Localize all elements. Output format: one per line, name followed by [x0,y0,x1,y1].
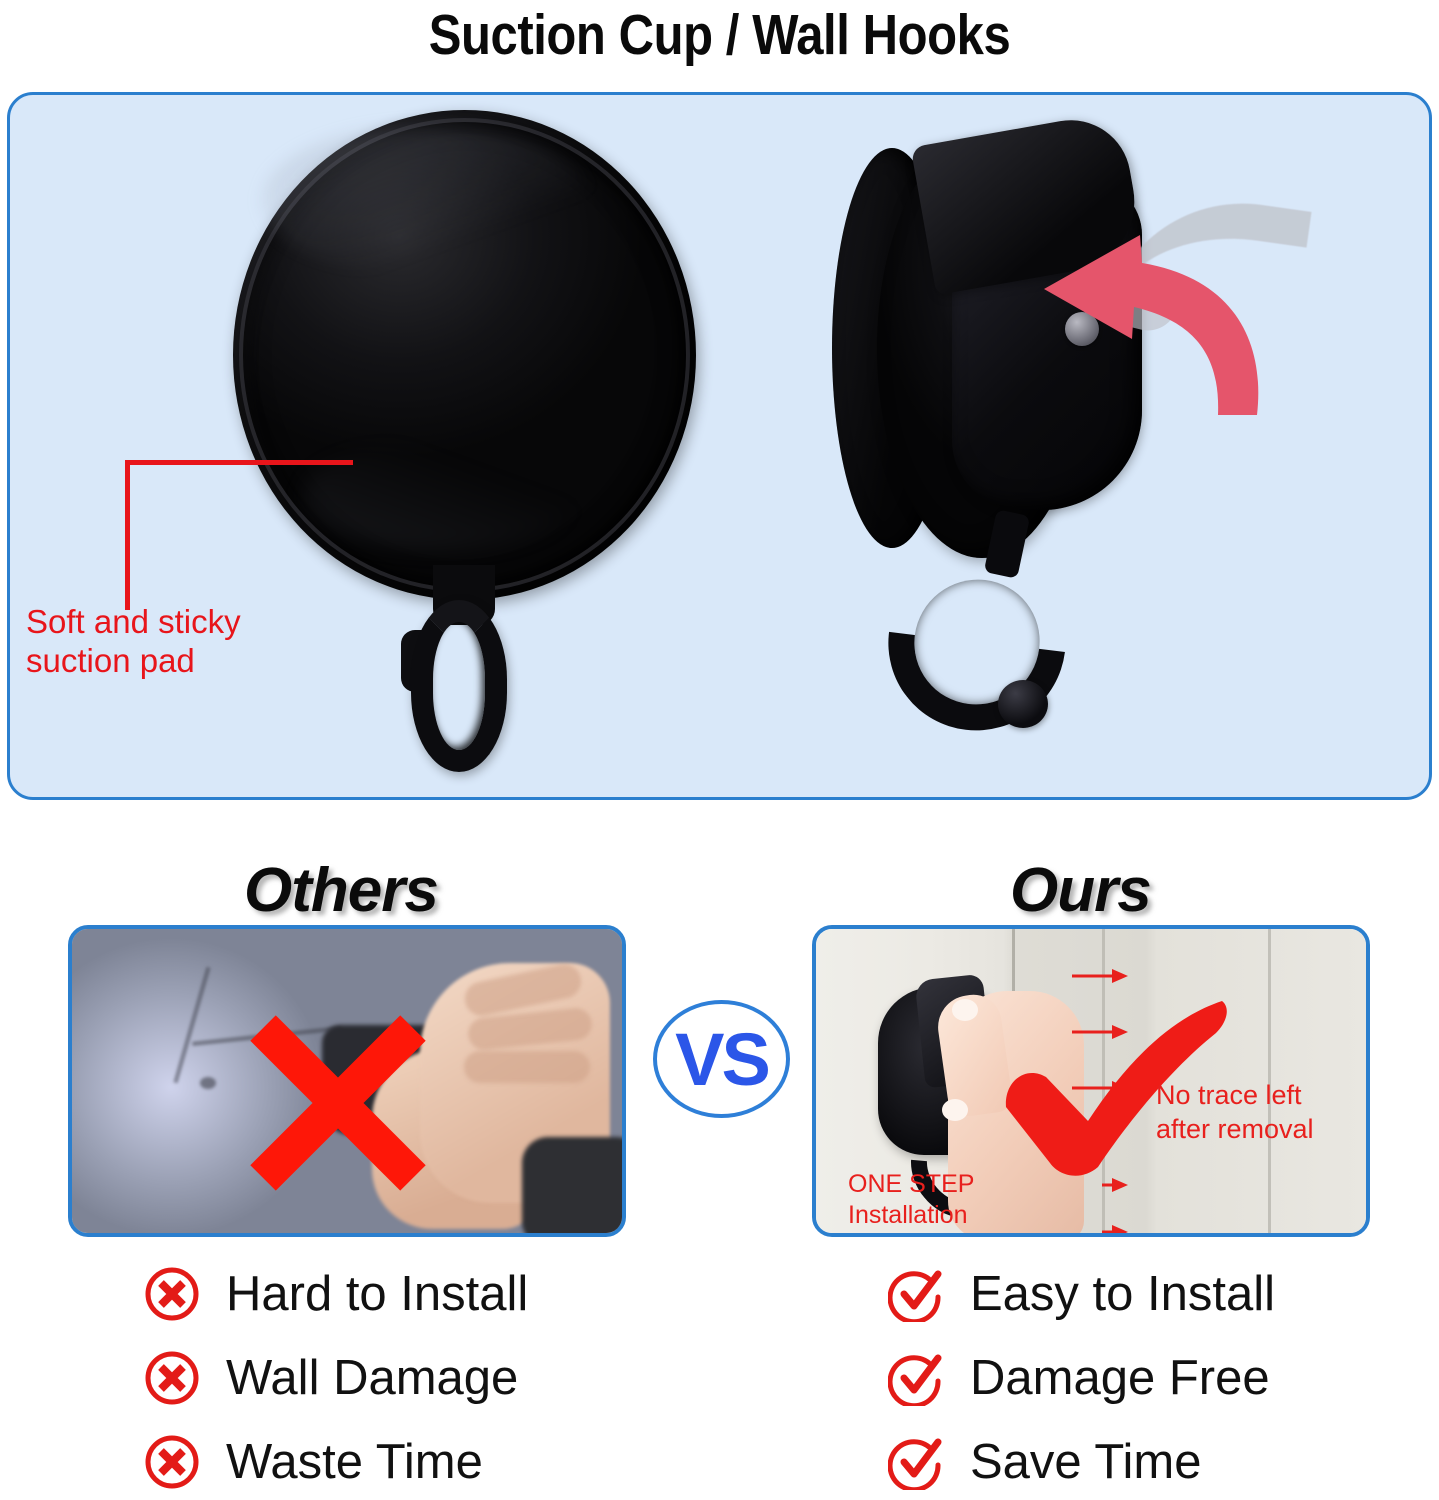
others-feature-list: Hard to Install Wall Damage Waste Time [144,1252,528,1500]
one-step-line1: ONE STEP [848,1169,974,1200]
list-item: Hard to Install [144,1252,528,1336]
no-trace-line2: after removal [1156,1113,1314,1147]
finger-3 [464,1051,590,1083]
callout-leader-line [115,460,353,610]
page-title: Suction Cup / Wall Hooks [101,2,1339,68]
callout-text: Soft and sticky suction pad [26,603,346,681]
list-item: Waste Time [144,1420,528,1500]
ours-photo: ONE STEP Installation No trace left afte… [816,929,1366,1233]
circle-x-icon [144,1266,200,1322]
press-lever-arrow-icon [1022,227,1272,417]
no-trace-label: No trace left after removal [1156,1079,1314,1147]
hook-loop [411,600,507,772]
one-step-installation-label: ONE STEP Installation [848,1169,974,1232]
others-heading: Others [244,855,438,926]
dark-sleeve [522,1137,626,1237]
ours-photo-card: ONE STEP Installation No trace left afte… [812,925,1370,1237]
callout-leader-horizontal [125,460,353,465]
hero-panel: Soft and sticky suction pad [7,92,1432,800]
list-item: Save Time [888,1420,1275,1500]
suction-cup-hook-side-image [822,120,1292,780]
ours-heading: Ours [1010,855,1151,926]
circle-check-icon [888,1350,944,1406]
callout-text-line1: Soft and sticky [26,603,346,642]
feature-label: Easy to Install [970,1266,1275,1322]
pad-highlight [263,126,593,276]
circle-x-icon [144,1434,200,1490]
circle-x-icon [144,1350,200,1406]
feature-label: Save Time [970,1434,1201,1490]
ours-feature-list: Easy to Install Damage Free Save Time [888,1252,1275,1500]
feature-label: Waste Time [226,1434,483,1490]
side-hook [880,512,1092,762]
side-hook-ball-tip [998,680,1048,728]
wall-crack [174,967,211,1083]
feature-label: Hard to Install [226,1266,528,1322]
side-hook-curve [853,518,1102,766]
list-item: Wall Damage [144,1336,528,1420]
circle-check-icon [888,1434,944,1490]
list-item: Easy to Install [888,1252,1275,1336]
others-photo-card [68,925,626,1237]
callout-text-line2: suction pad [26,642,346,681]
list-item: Damage Free [888,1336,1275,1420]
circle-check-icon [888,1266,944,1322]
feature-label: Wall Damage [226,1350,518,1406]
callout-leader-vertical [125,460,130,610]
no-trace-line1: No trace left [1156,1079,1314,1113]
red-x-mark-icon [232,1001,442,1191]
feature-label: Damage Free [970,1350,1270,1406]
one-step-line2: Installation [848,1200,974,1231]
product-infographic: Suction Cup / Wall Hooks [0,0,1439,1500]
others-photo [72,929,622,1233]
vs-badge: VS [653,1000,790,1118]
wall-mark [200,1077,216,1089]
